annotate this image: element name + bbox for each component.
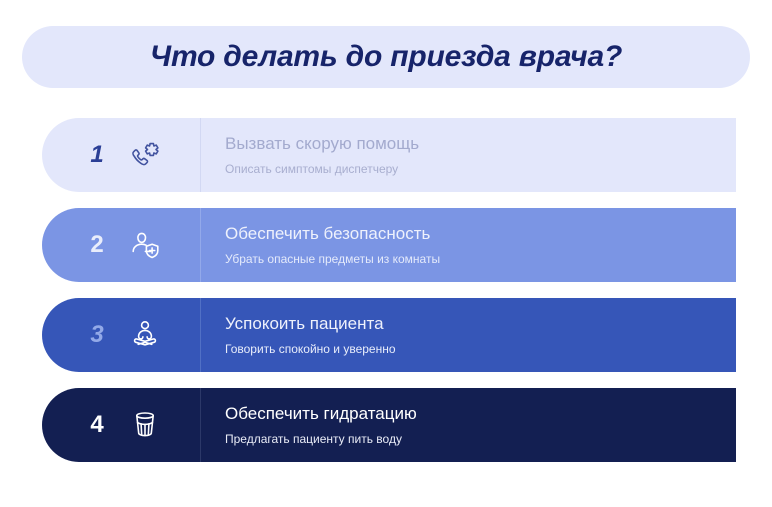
- step-title: Обеспечить безопасность: [225, 224, 736, 244]
- step-row[interactable]: 3 Успокоить пациента Говорить спокойно и…: [42, 298, 736, 372]
- water-glass-hydration-icon: [126, 406, 164, 444]
- step-body: Обеспечить безопасность Убрать опасные п…: [201, 208, 736, 282]
- header-banner: Что делать до приезда врача?: [22, 26, 750, 88]
- step-body: Вызвать скорую помощь Описать симптомы д…: [201, 118, 736, 192]
- step-subtitle: Говорить спокойно и уверенно: [225, 342, 736, 356]
- step-row[interactable]: 2 Обеспечить безопасность Убрать опасные…: [42, 208, 736, 282]
- step-body: Успокоить пациента Говорить спокойно и у…: [201, 298, 736, 372]
- step-subtitle: Предлагать пациенту пить воду: [225, 432, 736, 446]
- meditating-person-calm-icon: [126, 316, 164, 354]
- step-number: 1: [80, 143, 114, 167]
- step-subtitle: Убрать опасные предметы из комнаты: [225, 252, 736, 266]
- steps-list: 1 Вызвать скорую помощь Описать симптомы…: [42, 118, 736, 478]
- step-title: Вызвать скорую помощь: [225, 134, 736, 154]
- step-number: 3: [80, 323, 114, 347]
- page-title: Что делать до приезда врача?: [150, 42, 622, 72]
- step-title: Обеспечить гидратацию: [225, 404, 736, 424]
- step-left-section: 1: [42, 118, 200, 192]
- infographic-poster: Что делать до приезда врача? 1 Вызвать с…: [0, 0, 772, 507]
- person-shield-safety-icon: [126, 226, 164, 264]
- step-number: 2: [80, 233, 114, 257]
- step-body: Обеспечить гидратацию Предлагать пациент…: [201, 388, 736, 462]
- step-row[interactable]: 4 Обеспечить гидратацию Предлагать пацие…: [42, 388, 736, 462]
- step-number: 4: [80, 413, 114, 437]
- step-left-section: 2: [42, 208, 200, 282]
- step-row[interactable]: 1 Вызвать скорую помощь Описать симптомы…: [42, 118, 736, 192]
- emergency-phone-call-icon: [126, 136, 164, 174]
- step-left-section: 4: [42, 388, 200, 462]
- step-subtitle: Описать симптомы диспетчеру: [225, 162, 736, 176]
- step-title: Успокоить пациента: [225, 314, 736, 334]
- step-left-section: 3: [42, 298, 200, 372]
